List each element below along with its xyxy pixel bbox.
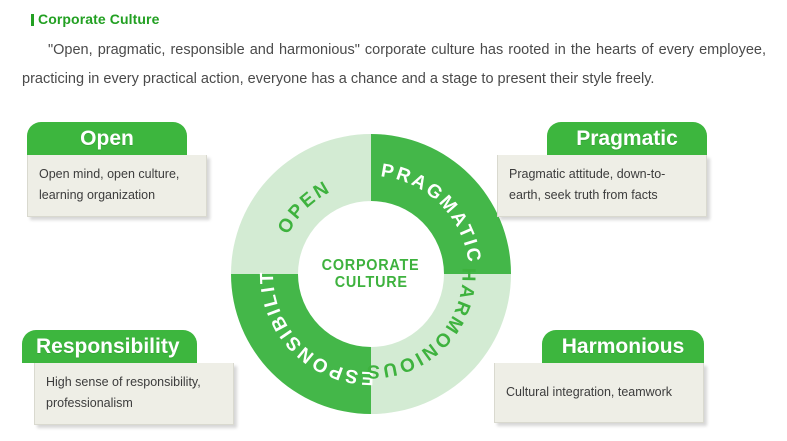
- card-open-body: Open mind, open culture, learning organi…: [27, 155, 207, 217]
- donut-segment-open: [231, 134, 371, 274]
- card-harmonious-body: Cultural integration, teamwork: [494, 363, 704, 423]
- card-pragmatic: Pragmatic Pragmatic attitude, down-to-ea…: [497, 122, 707, 217]
- intro-paragraph: "Open, pragmatic, responsible and harmon…: [22, 36, 766, 94]
- page-title: Corporate Culture: [38, 11, 160, 27]
- heading-accent-bar: [31, 14, 34, 26]
- donut-svg: OPEN PRAGMATIC RESPONSIBILITY HARMONIOUS: [231, 134, 511, 414]
- card-open: Open Open mind, open culture, learning o…: [27, 122, 207, 217]
- card-responsibility-body: High sense of responsibility, profession…: [34, 363, 234, 425]
- card-open-title: Open: [27, 122, 187, 155]
- card-harmonious-title: Harmonious: [542, 330, 704, 363]
- card-responsibility: Responsibility High sense of responsibil…: [22, 330, 234, 425]
- card-pragmatic-body: Pragmatic attitude, down-to-earth, seek …: [497, 155, 707, 217]
- card-harmonious: Harmonious Cultural integration, teamwor…: [494, 330, 704, 423]
- card-responsibility-title: Responsibility: [22, 330, 197, 363]
- corporate-culture-donut-diagram: OPEN PRAGMATIC RESPONSIBILITY HARMONIOUS…: [231, 134, 511, 414]
- card-pragmatic-title: Pragmatic: [547, 122, 707, 155]
